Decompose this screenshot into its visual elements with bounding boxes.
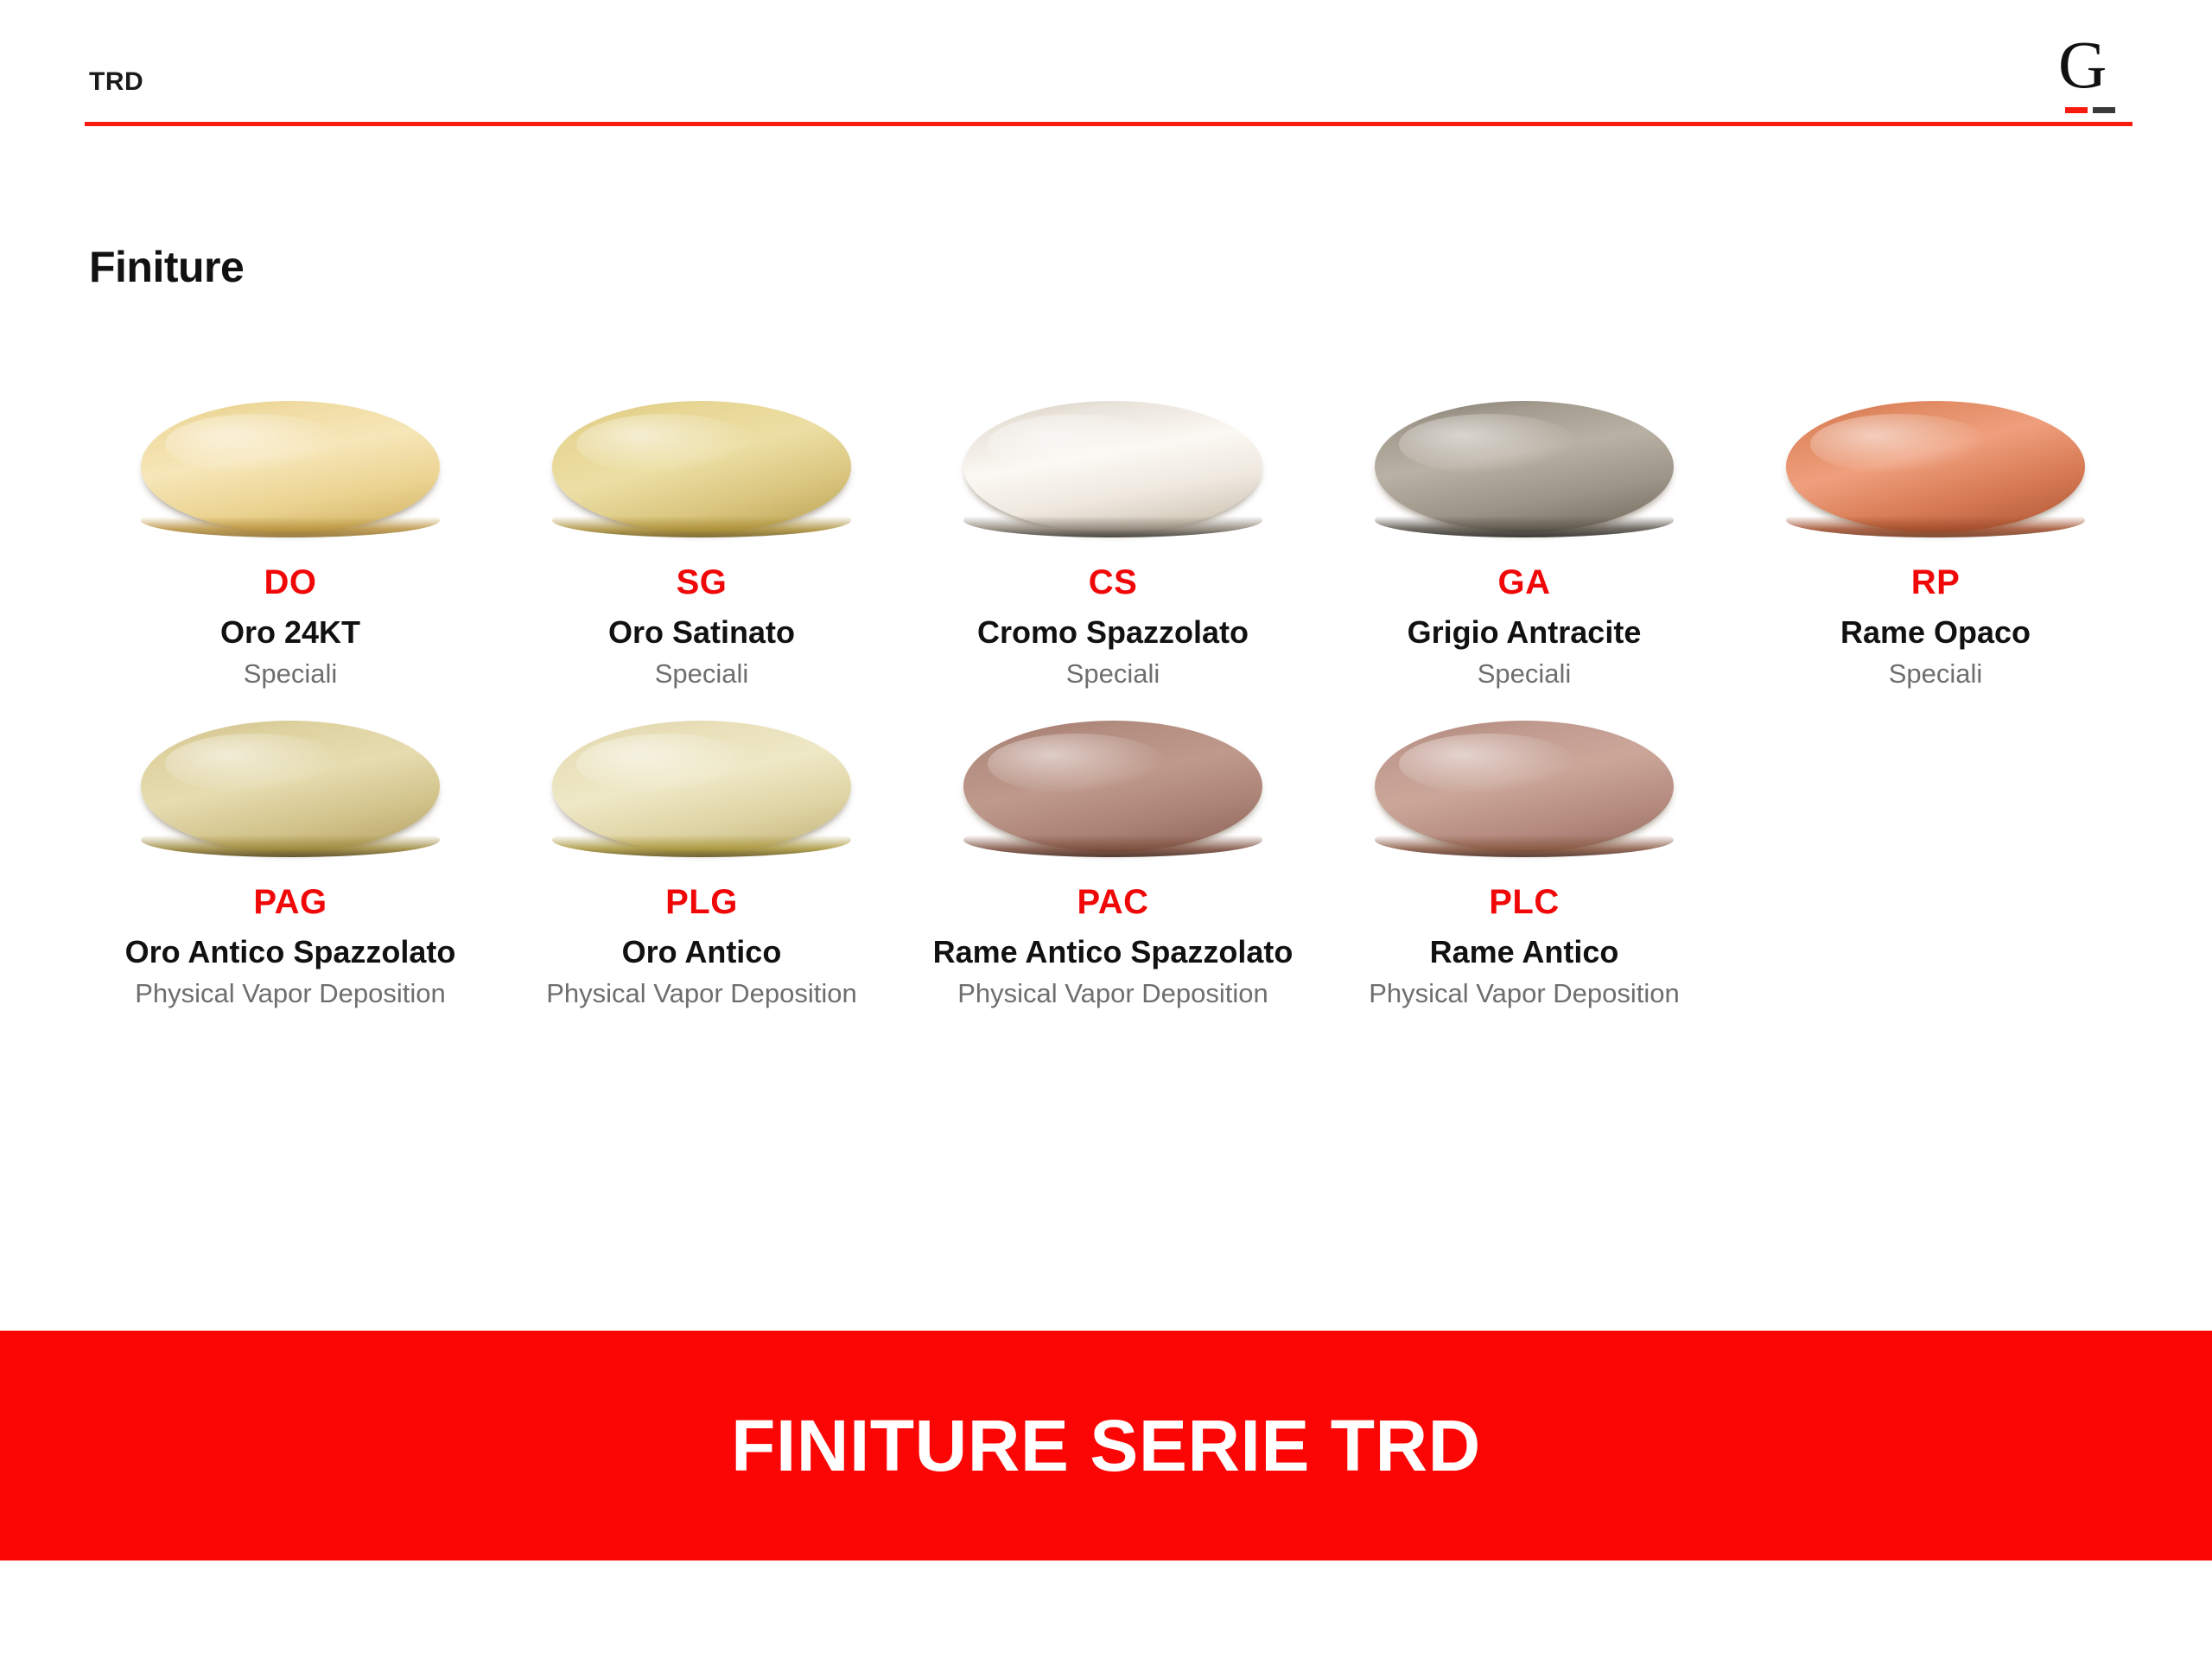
swatch-rim-icon (141, 823, 440, 857)
finish-technology: Speciali (655, 658, 749, 691)
finish-swatch-icon (1375, 401, 1674, 532)
finish-name: Rame Antico (1430, 933, 1619, 970)
logo-dark-bar-icon (2093, 107, 2115, 113)
swatch-sheen-icon (165, 734, 345, 794)
finish-swatch-icon (1375, 721, 1674, 852)
swatch-sheen-icon (1810, 414, 1990, 474)
finish-card-rp[interactable]: RP Rame Opaco Speciali (1730, 389, 2141, 691)
finish-code: DO (264, 563, 317, 601)
swatch-wrapper (135, 389, 446, 544)
swatch-wrapper (1369, 709, 1680, 864)
finish-swatch-icon (141, 721, 440, 852)
header-series-code: TRD (89, 67, 143, 97)
finish-code: SG (677, 563, 728, 601)
finish-name: Rame Antico Spazzolato (933, 933, 1294, 970)
finish-technology: Speciali (1066, 658, 1160, 691)
finishes-row-1: DO Oro 24KT Speciali SG Oro Satinato Spe… (85, 389, 2141, 691)
swatch-rim-icon (552, 503, 851, 537)
finish-card-cs[interactable]: CS Cromo Spazzolato Speciali (907, 389, 1319, 691)
finishes-grid: DO Oro 24KT Speciali SG Oro Satinato Spe… (85, 389, 2141, 1011)
finish-technology: Physical Vapor Deposition (957, 977, 1268, 1011)
swatch-wrapper (546, 389, 857, 544)
logo-red-bar-icon (2065, 107, 2088, 113)
bottom-banner: FINITURE SERIE TRD (0, 1331, 2212, 1560)
banner-title: FINITURE SERIE TRD (731, 1404, 1481, 1488)
finish-card-pac[interactable]: PAC Rame Antico Spazzolato Physical Vapo… (907, 709, 1319, 1011)
page-header: TRD G (0, 0, 2212, 130)
finish-name: Oro Antico (622, 933, 782, 970)
finish-technology: Speciali (1478, 658, 1572, 691)
finish-code: PLC (1489, 883, 1560, 921)
finish-code: RP (1911, 563, 1961, 601)
finish-swatch-icon (963, 721, 1262, 852)
finish-code: GA (1498, 563, 1551, 601)
finish-name: Grigio Antracite (1408, 613, 1642, 651)
finish-card-pag[interactable]: PAG Oro Antico Spazzolato Physical Vapor… (85, 709, 496, 1011)
swatch-rim-icon (1375, 503, 1674, 537)
finish-name: Oro Satinato (608, 613, 795, 651)
swatch-sheen-icon (1399, 734, 1579, 794)
finish-swatch-icon (963, 401, 1262, 532)
page-title: Finiture (89, 242, 244, 292)
finish-card-plc[interactable]: PLC Rame Antico Physical Vapor Depositio… (1319, 709, 1730, 1011)
swatch-wrapper (135, 709, 446, 864)
finish-code: PAG (253, 883, 327, 921)
swatch-wrapper (546, 709, 857, 864)
swatch-sheen-icon (1399, 414, 1579, 474)
finish-card-plg[interactable]: PLG Oro Antico Physical Vapor Deposition (496, 709, 907, 1011)
swatch-sheen-icon (165, 414, 345, 474)
header-divider-rule (85, 122, 2133, 126)
finish-name: Rame Opaco (1840, 613, 2031, 651)
swatch-rim-icon (1786, 503, 2085, 537)
finish-name: Cromo Spazzolato (977, 613, 1249, 651)
swatch-wrapper (957, 389, 1268, 544)
finish-swatch-icon (552, 401, 851, 532)
swatch-sheen-icon (988, 414, 1167, 474)
finish-name: Oro Antico Spazzolato (125, 933, 456, 970)
finish-technology: Speciali (1889, 658, 1983, 691)
finish-name: Oro 24KT (220, 613, 360, 651)
finishes-row-2: PAG Oro Antico Spazzolato Physical Vapor… (85, 709, 2141, 1011)
finish-card-ga[interactable]: GA Grigio Antracite Speciali (1319, 389, 1730, 691)
swatch-wrapper (957, 709, 1268, 864)
finish-code: CS (1089, 563, 1138, 601)
finish-technology: Speciali (244, 658, 338, 691)
finish-technology: Physical Vapor Deposition (135, 977, 446, 1011)
swatch-wrapper (1780, 389, 2091, 544)
swatch-rim-icon (141, 503, 440, 537)
swatch-rim-icon (963, 823, 1262, 857)
finish-swatch-icon (141, 401, 440, 532)
finish-technology: Physical Vapor Deposition (546, 977, 857, 1011)
swatch-sheen-icon (576, 734, 756, 794)
swatch-rim-icon (552, 823, 851, 857)
logo-g-icon: G (2058, 31, 2107, 99)
finish-card-sg[interactable]: SG Oro Satinato Speciali (496, 389, 907, 691)
swatch-sheen-icon (576, 414, 756, 474)
finish-swatch-icon (1786, 401, 2085, 532)
finish-card-do[interactable]: DO Oro 24KT Speciali (85, 389, 496, 691)
finish-swatch-icon (552, 721, 851, 852)
finish-code: PAC (1077, 883, 1149, 921)
swatch-wrapper (1369, 389, 1680, 544)
swatch-rim-icon (1375, 823, 1674, 857)
swatch-sheen-icon (988, 734, 1167, 794)
brand-logo: G (2058, 41, 2136, 119)
finish-technology: Physical Vapor Deposition (1369, 977, 1680, 1011)
finish-code: PLG (665, 883, 738, 921)
swatch-rim-icon (963, 503, 1262, 537)
